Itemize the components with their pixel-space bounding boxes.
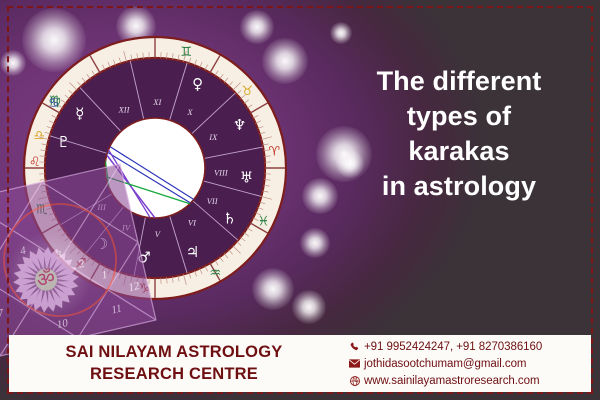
zodiac-gemini: ♊ [180,45,192,60]
planet-pluto: ♇ [57,133,70,151]
brand-line-1: SAI NILAYAM ASTROLOGY [9,342,339,364]
house-VII: VII [207,196,219,206]
house-IX: IX [208,132,218,142]
contact-block: +91 9952424247, +91 8270386160 jothidaso… [339,338,591,389]
envelope-icon [345,359,364,368]
contact-row-phone: +91 9952424247, +91 8270386160 [345,338,591,355]
globe-icon [345,376,364,386]
headline-line-1: The different [330,64,588,99]
zodiac-libra: ♎ [33,128,45,143]
phone-icon [345,342,364,352]
bokeh-orb [330,22,352,44]
email-text: jothidasootchumam@gmail.com [364,358,526,370]
house-X: X [186,107,193,117]
planet-venus: ♀ [192,75,203,93]
website-text: www.sainilayamastroresearch.com [364,375,539,387]
planet-uranus: ♅ [240,169,253,187]
astrology-banner: ♊♉♈♓♒♑♐♏♎♍♌♋ ♀♆♅♄♃♂☽♇☿ IXXXIXIIVIIIVIIVI… [0,0,600,400]
headline: The different types of karakas in astrol… [330,64,588,204]
zodiac-pisces: ♓ [257,214,269,229]
house-XI: XI [152,97,162,107]
phone-text: +91 9952424247, +91 8270386160 [364,341,542,353]
contact-row-website: www.sainilayamastroresearch.com [345,372,591,389]
planet-neptune: ♆ [233,116,246,134]
headline-line-4: in astrology [330,169,588,204]
footer-bar: SAI NILAYAM ASTROLOGY RESEARCH CENTRE +9… [9,335,591,392]
house-VIII: VIII [214,168,229,178]
contact-row-email: jothidasootchumam@gmail.com [345,355,591,372]
zodiac-leo: ♌ [29,155,41,170]
brand-line-2: RESEARCH CENTRE [9,364,339,386]
zodiac-taurus: ♉ [241,84,253,99]
zodiac-cancer: ♋ [48,96,60,111]
headline-line-3: karakas [330,134,588,169]
zodiac-aries: ♈ [268,145,280,160]
zodiac-aquarius: ♒ [209,266,221,281]
brand-name: SAI NILAYAM ASTROLOGY RESEARCH CENTRE [9,342,339,386]
house-VI: VI [188,218,197,228]
planet-mercury: ☿ [75,104,84,122]
planet-jupiter: ♃ [186,243,199,261]
house-XII: XII [118,105,131,115]
headline-line-2: types of [330,99,588,134]
planet-saturn: ♄ [223,209,236,227]
